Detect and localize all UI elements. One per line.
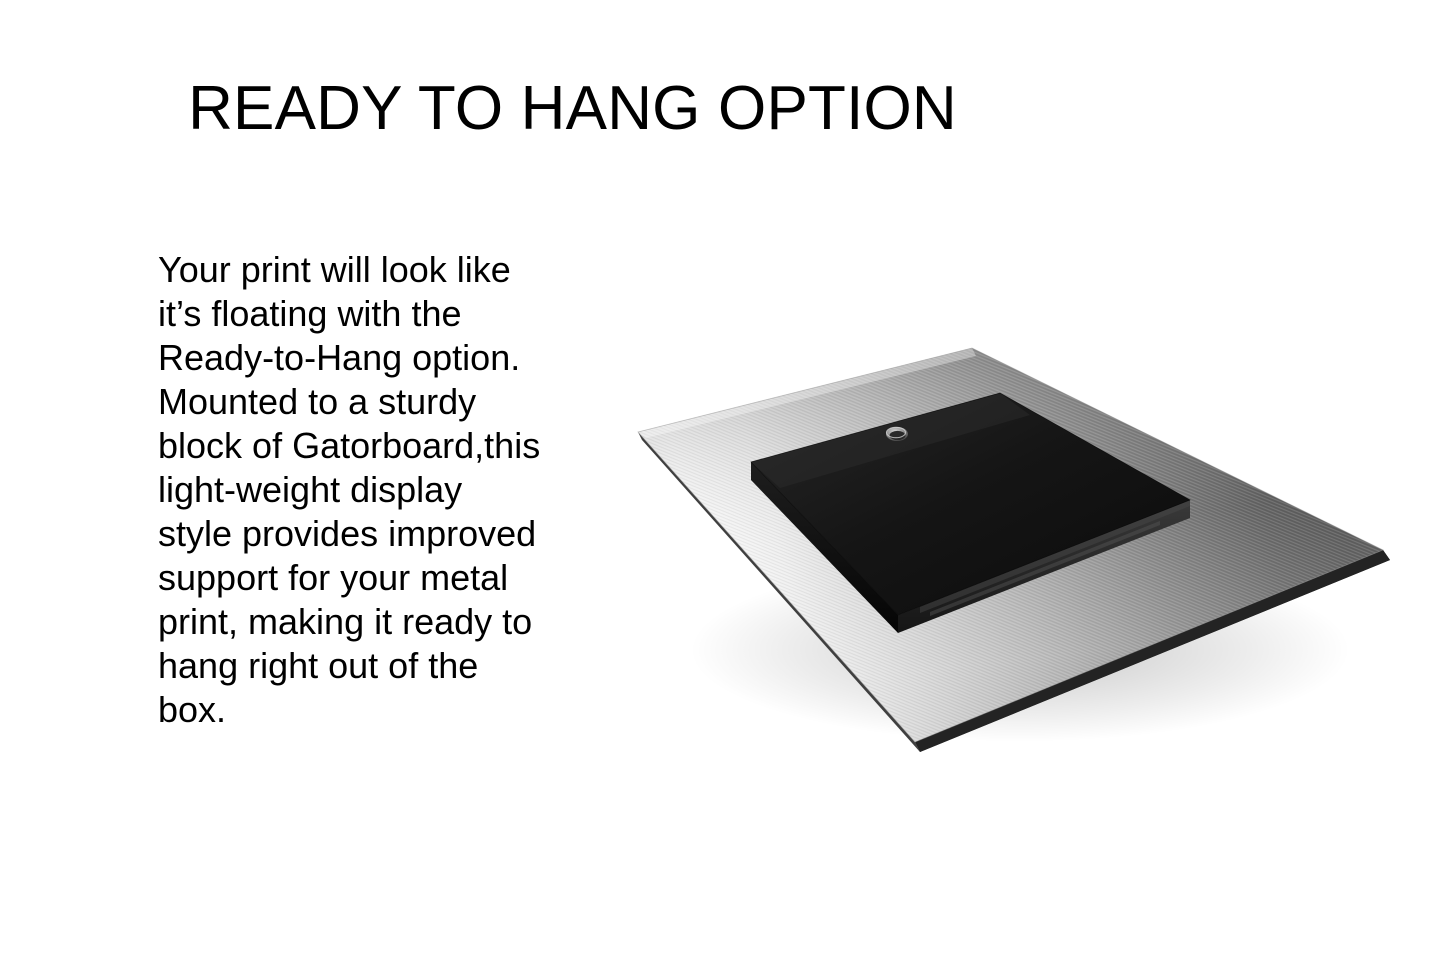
description-line: Ready-to-Hang option. (158, 336, 578, 380)
description-text-block: Your print will look like it’s floating … (158, 248, 578, 732)
keyhole-hanger-icon (886, 427, 908, 441)
description-line: light-weight display (158, 468, 578, 512)
description-line: hang right out of the (158, 644, 578, 688)
product-photo (600, 320, 1420, 780)
description-line: Your print will look like (158, 248, 578, 292)
description-line: print, making it ready to (158, 600, 578, 644)
description-line: style provides improved (158, 512, 578, 556)
description-line: support for your metal (158, 556, 578, 600)
description-line: it’s floating with the (158, 292, 578, 336)
page-title: READY TO HANG OPTION (0, 78, 1445, 140)
slide-canvas: READY TO HANG OPTION Your print will loo… (0, 0, 1445, 963)
description-line: box. (158, 688, 578, 732)
description-line: Mounted to a sturdy (158, 380, 578, 424)
product-illustration (600, 320, 1420, 780)
description-line: block of Gatorboard,this (158, 424, 578, 468)
